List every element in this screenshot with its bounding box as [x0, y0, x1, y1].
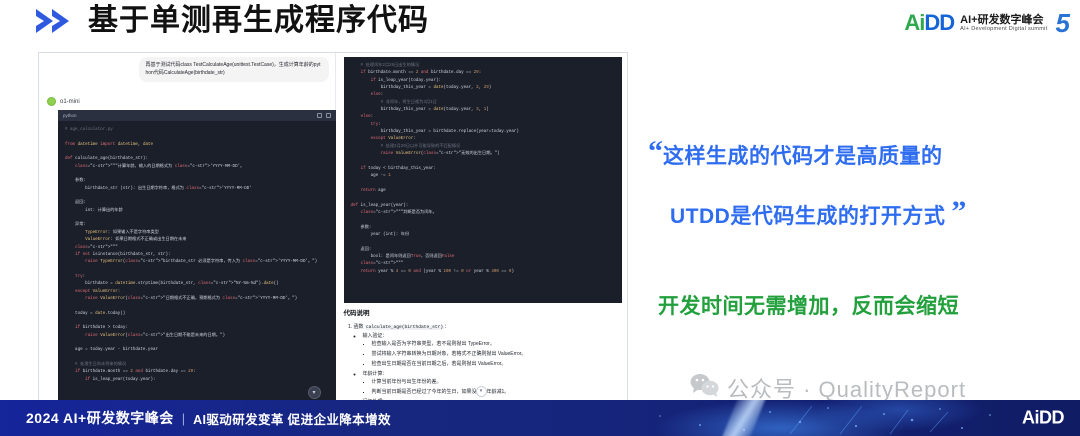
explanation-group: 年龄计算： 计算当前年份与出生年份的差。 判断当前日期是否已经过了今年的生日，如… [363, 370, 622, 396]
quote-text-2: UTDD是代码生成的打开方式 [670, 200, 945, 230]
quote-text-3: 开发时间无需增加，反而会缩短 [658, 290, 959, 320]
code-language-label: python [63, 113, 77, 118]
explanation-group: 输入验证： 检查输入是否为字符串类型，若不是则抛出 TypeError。 尝试将… [363, 332, 622, 368]
quote-line-1: “ 这样生成的代码才是高质量的 [648, 140, 1068, 170]
scroll-down-button-right[interactable]: ▾ [476, 386, 487, 397]
brand-name-en: AI+ Development Digital summit [960, 26, 1047, 33]
code-content-left: # age_calculator.py from datetime import… [58, 121, 336, 390]
slide-title-row: 基于单测再生成程序代码 [36, 6, 429, 36]
brand-text: AI+研发数字峰会 AI+ Development Digital summit [960, 14, 1047, 33]
footer-logo: AiDD [1022, 408, 1064, 429]
chat-screenshot-card: 再基于测试代码class TestCalculateAge(unittest.T… [38, 52, 628, 410]
copy-icon[interactable] [326, 113, 331, 118]
explanation-heading: 代码说明 [344, 309, 622, 319]
explanation-item-suffix: ： [444, 324, 449, 330]
explanation-group-title: 输入验证： [363, 333, 388, 339]
explanation-point: 尝试将输入字符串转换为日期对象，若格式不正确则抛出 ValueError。 [372, 350, 622, 358]
explanation-groups: 输入验证： 检查输入是否为字符串类型，若不是则抛出 TypeError。 尝试将… [363, 332, 622, 410]
brand-mark-dd: DD [924, 10, 954, 35]
quote-block: “ 这样生成的代码才是高质量的 UTDD是代码生成的打开方式 ” [648, 140, 1068, 230]
quote-close-mark: ” [951, 200, 966, 224]
footer-content: 2024 AI+研发数字峰会 | AI驱动研发变革 促进企业降本增效 [26, 408, 391, 428]
chat-pane-right: # 处理闰年2月29日出生的情况 if birthdate.month == 2… [336, 53, 628, 409]
quote-text-1: 这样生成的代码才是高质量的 [663, 140, 943, 170]
double-triangle-play-icon [36, 8, 76, 34]
expand-icon[interactable] [317, 113, 322, 118]
explanation-point: 判断当前日期是否已经过了今年的生日，如果没有则年龄减1。 [372, 388, 622, 396]
explanation-point: 检查输入是否为字符串类型，若不是则抛出 TypeError。 [372, 340, 622, 348]
explanation-point: 计算当前年份与出生年份的差。 [372, 378, 622, 386]
scroll-down-button-left[interactable]: ▾ [308, 386, 321, 399]
brand-edition-number: 5 [1056, 10, 1070, 36]
explanation-point: 检查出生日期是否在当前日期之后，若是则抛出 ValueError。 [372, 360, 622, 368]
footer-bar: 2024 AI+研发数字峰会 | AI驱动研发变革 促进企业降本增效 AiDD [0, 400, 1080, 436]
footer-subtitle: AI驱动研发变革 促进企业降本增效 [193, 409, 391, 428]
code-block-actions[interactable] [317, 113, 331, 118]
code-content-right: # 处理闰年2月29日出生的情况 if birthdate.month == 2… [344, 57, 622, 282]
code-block-right: # 处理闰年2月29日出生的情况 if birthdate.month == 2… [344, 57, 622, 303]
explanation-points: 计算当前年份与出生年份的差。 判断当前日期是否已经过了今年的生日，如果没有则年龄… [372, 378, 622, 396]
assistant-header: o1-mini [47, 97, 80, 106]
footer-light-streak [720, 400, 767, 436]
explanation-item-code: calculate_age(birthdate_str) [365, 325, 444, 330]
brand-mark-ai: Ai [904, 10, 924, 35]
page-title: 基于单测再生成程序代码 [88, 6, 429, 36]
chat-pane-left: 再基于测试代码class TestCalculateAge(unittest.T… [39, 53, 336, 409]
code-block-left: python # age_calculator.py from datetime… [58, 110, 336, 410]
model-avatar-icon [47, 97, 56, 106]
explanation-item-label: 函数 [354, 324, 364, 330]
brand-mark: AiDD [904, 12, 954, 34]
user-message-bubble: 再基于测试代码class TestCalculateAge(unittest.T… [139, 57, 329, 82]
code-block-toolbar: python [58, 110, 336, 121]
model-name-label: o1-mini [60, 99, 80, 105]
explanation-group-title: 年龄计算： [363, 371, 388, 377]
quote-line-2: UTDD是代码生成的打开方式 ” [648, 200, 1068, 230]
explanation-points: 检查输入是否为字符串类型，若不是则抛出 TypeError。 尝试将输入字符串转… [372, 340, 622, 368]
slide-root: 基于单测再生成程序代码 AiDD AI+研发数字峰会 AI+ Developme… [0, 0, 1080, 436]
brand-name-cn: AI+研发数字峰会 [960, 14, 1047, 26]
footer-main-title: 2024 AI+研发数字峰会 [26, 408, 174, 428]
wechat-icon [690, 373, 720, 403]
explanation-item: 函数 calculate_age(birthdate_str)： 输入验证： 检… [354, 323, 622, 410]
brand-logo: AiDD AI+研发数字峰会 AI+ Development Digital s… [904, 10, 1070, 36]
explanation-list: 函数 calculate_age(birthdate_str)： 输入验证： 检… [354, 323, 622, 410]
quote-open-mark: “ [648, 140, 663, 164]
footer-separator: | [182, 411, 185, 426]
